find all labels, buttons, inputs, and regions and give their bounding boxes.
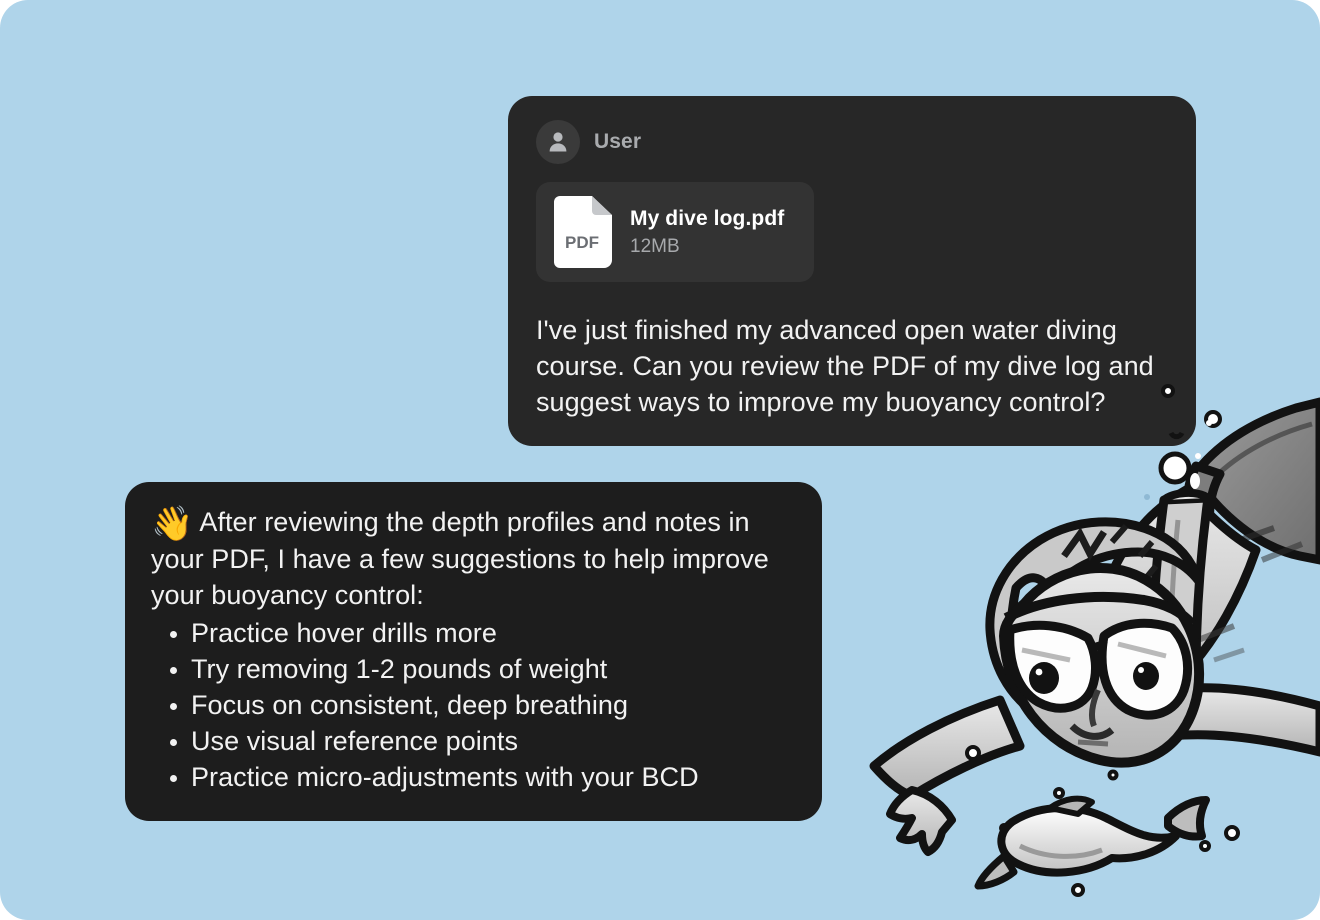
assistant-message-bubble: 👋After reviewing the depth profiles and …	[125, 482, 822, 821]
wetsuit-sleeve-shape	[1187, 402, 1320, 560]
pdf-file-size: 12MB	[630, 236, 784, 258]
list-item: Try removing 1-2 pounds of weight	[151, 651, 796, 687]
pdf-file-meta: My dive log.pdf 12MB	[630, 207, 784, 258]
list-item: Focus on consistent, deep breathing	[151, 687, 796, 723]
user-message-bubble: User PDF My dive log.pdf 12MB I've just …	[508, 96, 1196, 446]
pdf-file-name: My dive log.pdf	[630, 207, 784, 231]
background-bubbles-shape	[967, 747, 1238, 895]
waving-hand-emoji: 👋	[151, 505, 193, 543]
user-role-label: User	[594, 130, 641, 154]
person-avatar-icon	[536, 120, 580, 164]
suggestion-list: Practice hover drills more Try removing …	[151, 615, 796, 795]
user-message-text: I've just finished my advanced open wate…	[536, 312, 1168, 420]
app-canvas: User PDF My dive log.pdf 12MB I've just …	[0, 0, 1320, 920]
swimmer-right-arm-shape	[1161, 688, 1320, 752]
svg-text:PDF: PDF	[565, 233, 599, 252]
swimmer-torso-shape	[1086, 490, 1256, 720]
pdf-attachment-card[interactable]: PDF My dive log.pdf 12MB	[536, 182, 814, 282]
list-item: Use visual reference points	[151, 723, 796, 759]
user-message-header: User	[536, 120, 1168, 164]
swimmer-head-shape	[990, 522, 1199, 763]
list-item: Practice micro-adjustments with your BCD	[151, 759, 796, 795]
assistant-intro-text: 👋After reviewing the depth profiles and …	[151, 504, 796, 613]
swimmer-left-arm-shape	[874, 700, 1020, 852]
assistant-intro-copy: After reviewing the depth profiles and n…	[151, 507, 769, 610]
list-item: Practice hover drills more	[151, 615, 796, 651]
dive-mask-shape	[1010, 623, 1188, 715]
snorkel-tube-shape	[1152, 493, 1208, 714]
pdf-file-icon: PDF	[554, 196, 612, 268]
fish-shape	[978, 799, 1206, 886]
